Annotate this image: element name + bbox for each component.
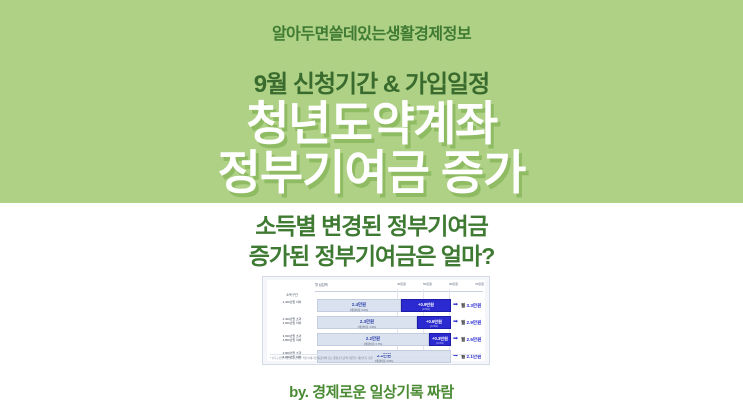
table-row: 2,400만원 이하 2.4만원 (매칭비율 6.0%) +0.9만원 (3.0… bbox=[269, 298, 483, 314]
row-added-highlight: +0.6만원 (3.0%) bbox=[417, 316, 451, 329]
row-bracket-label: 2,400만원 초과 3,600만원 이하 bbox=[270, 317, 314, 325]
main-headline: 청년도약계좌 정부기여금 증가 bbox=[0, 100, 743, 196]
base-amount: 2.2만원 bbox=[318, 336, 428, 341]
axis-label: 월 납입액 bbox=[315, 282, 328, 287]
infographic-canvas: 알아두면쓸데있는생활경제정보 9월 신청기간 & 가입일정 청년도약계좌 정부기… bbox=[0, 0, 743, 418]
base-rate: (매칭비율 3.7%) bbox=[318, 342, 428, 346]
row-base-bar: 2.2만원 (매칭비율 3.7%) bbox=[317, 333, 429, 346]
added-amount: +0.3만원 bbox=[430, 336, 450, 341]
axis-tick-1: 40만원 bbox=[397, 282, 406, 286]
added-rate: (3.0%) bbox=[402, 308, 450, 311]
added-rate: (3.0%) bbox=[418, 325, 450, 328]
table-row: 3,600만원 초과 4,800만원 이하 2.2만원 (매칭비율 3.7%) … bbox=[269, 332, 483, 348]
row-added-highlight: +0.9만원 (3.0%) bbox=[401, 299, 451, 312]
eyebrow-text: 알아두면쓸데있는생활경제정보 bbox=[0, 20, 743, 44]
added-amount: +0.9만원 bbox=[402, 302, 450, 307]
table-axis-header: 월 납입액 40만원 50만원 60만원 70만원 bbox=[315, 282, 483, 292]
axis-tick-4: 70만원 bbox=[475, 282, 484, 286]
row-result: 월 2.5만원 bbox=[461, 336, 481, 343]
row-base-bar: 2.3만원 (매칭비율 4.6%) bbox=[317, 316, 417, 329]
base-amount: 2.4만원 bbox=[318, 302, 400, 307]
kicker-text: 9월 신청기간 & 가입일정 bbox=[0, 64, 743, 99]
axis-tick-2: 50만원 bbox=[423, 282, 432, 286]
headline-line-1: 청년도약계좌 bbox=[246, 97, 496, 150]
table-corner-label: 소득구간 bbox=[270, 292, 314, 297]
subtitle-block: 소득별 변경된 정부기여금 증가된 정부기여금은 얼마? bbox=[0, 211, 743, 271]
embedded-table-screenshot: 월 납입액 40만원 50만원 60만원 70만원 소득구간 2,400만원 이… bbox=[262, 276, 490, 365]
arrow-right-icon: ➡ bbox=[453, 302, 458, 308]
table-footnote: * 소득구간별 기준소득 금액은 직전과세기간 총급여액 또는 종합소득금액 기… bbox=[270, 354, 482, 360]
row-added-highlight: +0.3만원 (3.0%) bbox=[429, 333, 451, 346]
arrow-right-icon: ➡ bbox=[453, 336, 458, 342]
base-rate: (매칭비율 6.0%) bbox=[318, 308, 400, 312]
row-bracket-label: 2,400만원 이하 bbox=[270, 300, 314, 304]
added-amount: +0.6만원 bbox=[418, 319, 450, 324]
arrow-right-icon: ➡ bbox=[453, 319, 458, 325]
base-rate: (매칭비율 4.6%) bbox=[318, 325, 416, 329]
row-result: 월 2.9만원 bbox=[461, 319, 481, 326]
row-base-bar: 2.4만원 (매칭비율 6.0%) bbox=[317, 299, 401, 312]
row-result: 월 3.3만원 bbox=[461, 302, 481, 309]
subtitle-line-2: 증가된 정부기여금은 얼마? bbox=[0, 241, 743, 271]
axis-tick-3: 60만원 bbox=[449, 282, 458, 286]
row-bracket-label: 3,600만원 초과 4,800만원 이하 bbox=[270, 334, 314, 342]
author-credit: by. 경제로운 일상기록 짜람 bbox=[0, 381, 743, 402]
subtitle-line-1: 소득별 변경된 정부기여금 bbox=[255, 213, 488, 239]
added-rate: (3.0%) bbox=[430, 342, 450, 345]
base-amount: 2.3만원 bbox=[318, 319, 416, 324]
table-row: 2,400만원 초과 3,600만원 이하 2.3만원 (매칭비율 4.6%) … bbox=[269, 315, 483, 331]
headline-line-2: 정부기여금 증가 bbox=[0, 149, 743, 196]
table-inner: 월 납입액 40만원 50만원 60만원 70만원 소득구간 2,400만원 이… bbox=[267, 280, 485, 361]
